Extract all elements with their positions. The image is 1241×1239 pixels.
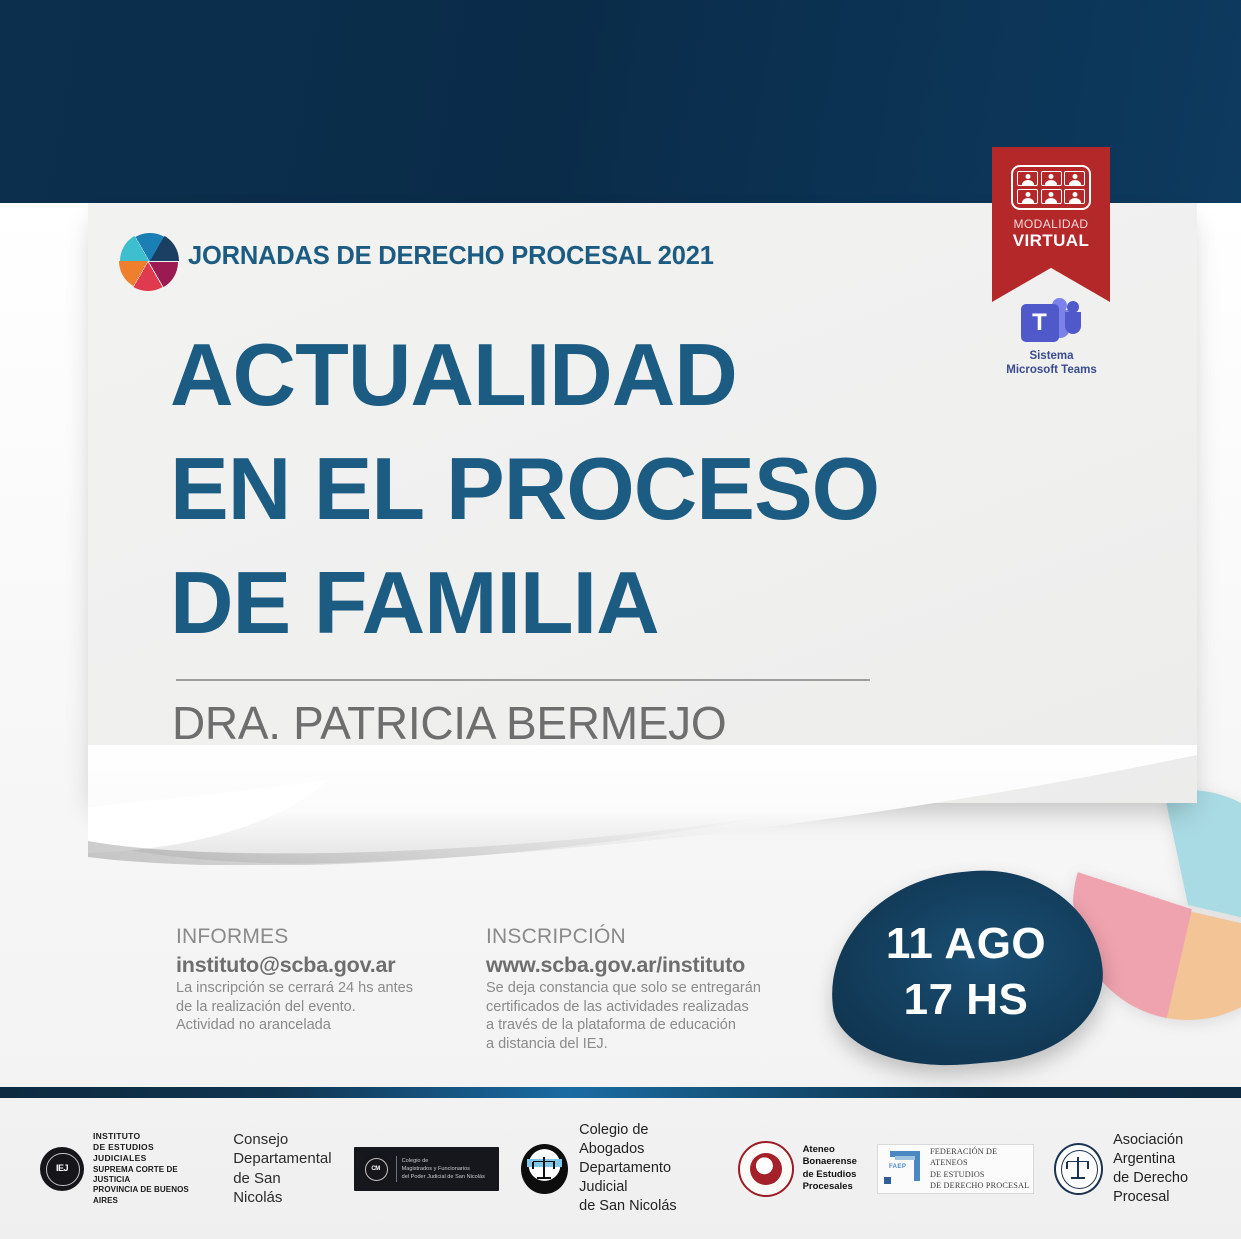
magistrados-divider [396, 1156, 397, 1182]
sponsor-logo-consejo-departamental: Consejo Departamental de San Nicolás [233, 1130, 331, 1207]
sponsor-logo-row: IEJ INSTITUTO DE ESTUDIOS JUDICIALES SUP… [0, 1098, 1241, 1239]
consejo-line2: Departamental [233, 1149, 331, 1168]
participant-cell [1017, 189, 1038, 204]
magistrados-line3: del Poder Judicial de San Nicolás [402, 1173, 485, 1181]
event-series-header: JORNADAS DE DERECHO PROCESAL 2021 [120, 228, 820, 302]
sponsor-logo-aadp: Asociación Argentina de Derecho Procesal [1034, 1131, 1241, 1207]
informes-heading: INFORMES [176, 925, 466, 949]
magistrados-seal-mark: CM [371, 1166, 379, 1172]
iej-line2: DE ESTUDIOS JUDICIALES [93, 1142, 209, 1164]
inscripcion-note-line4: a distancia del IEJ. [486, 1035, 786, 1054]
teams-person-head-small [1067, 301, 1079, 313]
inscripcion-note-line3: a través de la plataforma de educación [486, 1016, 786, 1035]
abogados-line1: Colegio de Abogados [579, 1121, 715, 1159]
iej-line3: SUPREMA CORTE DE JUSTICIA [93, 1165, 209, 1185]
inscripcion-note-line1: Se deja constancia que solo se entregará… [486, 979, 786, 998]
sponsor-logo-colegio-abogados: Colegio de Abogados Departamento Judicia… [499, 1121, 716, 1216]
participant-cell [1041, 189, 1062, 204]
abogados-line2: Departamento Judicial [579, 1159, 715, 1197]
consejo-line3: de San Nicolás [233, 1169, 331, 1207]
modalidad-virtual-ribbon: MODALIDAD VIRTUAL [992, 147, 1110, 302]
footer-divider-bar [0, 1087, 1241, 1098]
sponsor-logo-iej: IEJ INSTITUTO DE ESTUDIOS JUDICIALES SUP… [40, 1131, 209, 1206]
ateneo-line3: de Estudios [803, 1169, 857, 1182]
aadp-logo-text: Asociación Argentina de Derecho Procesal [1113, 1131, 1241, 1207]
date-badge-date: 11 AGO [830, 916, 1102, 972]
magistrados-logo-text: Colegio de Magistrados y Funcionarios de… [402, 1157, 485, 1181]
inscripcion-note-line2: certificados de las actividades realizad… [486, 998, 786, 1017]
sponsor-logo-faep: FAEP FEDERACIÓN DE ATENEOS DE ESTUDIOS D… [877, 1144, 1034, 1194]
aadp-line1: Asociación Argentina [1113, 1131, 1241, 1169]
inscripcion-block: INSCRIPCIÓN www.scba.gov.ar/instituto Se… [486, 925, 786, 1053]
consejo-line1: Consejo [233, 1130, 331, 1149]
ateneo-line4: Procesales [803, 1181, 857, 1194]
iej-seal-mark: IEJ [56, 1164, 68, 1173]
page-title-line1: ACTUALIDAD [170, 318, 1030, 432]
ateneo-line2: Bonaerense [803, 1156, 857, 1169]
ribbon-label-modalidad: MODALIDAD [992, 217, 1110, 231]
page-title-line3: DE FAMILIA [170, 546, 1030, 660]
abogados-line3: de San Nicolás [579, 1197, 715, 1216]
faep-line1: FEDERACIÓN DE ATENEOS [930, 1146, 1033, 1169]
iej-pinwheel-logo [120, 232, 178, 290]
date-badge-text: 11 AGO 17 HS [830, 916, 1102, 1028]
aadp-line2: de Derecho Procesal [1113, 1169, 1241, 1207]
logo-segment-orange [119, 232, 177, 290]
speaker-name: DRA. PATRICIA BERMEJO [172, 696, 726, 750]
aadp-scales-icon [1065, 1157, 1091, 1181]
date-badge-time: 17 HS [830, 972, 1102, 1028]
iej-line4: PROVINCIA DE BUENOS AIRES [93, 1185, 209, 1205]
magistrados-line1: Colegio de [402, 1157, 485, 1165]
colegio-abogados-seal-icon [521, 1144, 568, 1194]
inscripcion-url[interactable]: www.scba.gov.ar/instituto [486, 953, 786, 978]
informes-note-line1: La inscripción se cerrará 24 hs antes [176, 979, 466, 998]
faep-line3: DE DERECHO PROCESAL [930, 1180, 1033, 1192]
ribbon-label-virtual: VIRTUAL [992, 231, 1110, 251]
video-conference-grid-icon [1011, 165, 1091, 210]
speaker-divider [176, 679, 870, 681]
iej-seal-icon: IEJ [40, 1147, 84, 1191]
ateneo-logo-text: Ateneo Bonaerense de Estudios Procesales [803, 1144, 857, 1194]
iej-logo-text: INSTITUTO DE ESTUDIOS JUDICIALES SUPREMA… [93, 1131, 209, 1206]
colegio-abogados-logo-text: Colegio de Abogados Departamento Judicia… [579, 1121, 715, 1216]
faep-logo-icon: FAEP [884, 1151, 924, 1187]
faep-mark-label: FAEP [889, 1164, 906, 1170]
iej-line1: INSTITUTO [93, 1131, 209, 1142]
participant-cell [1041, 171, 1062, 186]
informes-note-line2: de la realización del evento. [176, 998, 466, 1017]
footer: IEJ INSTITUTO DE ESTUDIOS JUDICIALES SUP… [0, 1098, 1241, 1239]
date-badge: 11 AGO 17 HS [830, 872, 1102, 1064]
informes-note-line3: Actividad no arancelada [176, 1016, 466, 1035]
participant-cell [1064, 171, 1085, 186]
faep-logo-text: FEDERACIÓN DE ATENEOS DE ESTUDIOS DE DER… [930, 1146, 1033, 1192]
aadp-seal-icon [1054, 1143, 1103, 1195]
magistrados-line2: Magistrados y Funcionarios [402, 1165, 485, 1173]
informes-block: INFORMES instituto@scba.gov.ar La inscri… [176, 925, 466, 1035]
page-title: ACTUALIDAD EN EL PROCESO DE FAMILIA [170, 318, 1030, 660]
inscripcion-heading: INSCRIPCIÓN [486, 925, 786, 949]
event-series-title: JORNADAS DE DERECHO PROCESAL 2021 [188, 242, 714, 271]
sponsor-logo-colegio-magistrados: CM Colegio de Magistrados y Funcionarios… [354, 1147, 499, 1191]
teams-person-body-small [1065, 312, 1081, 334]
faep-line2: DE ESTUDIOS [930, 1169, 1033, 1181]
participant-cell [1064, 189, 1085, 204]
consejo-logo-text: Consejo Departamental de San Nicolás [233, 1130, 331, 1207]
ateneo-line1: Ateneo [803, 1144, 857, 1157]
scales-of-justice-icon [531, 1157, 557, 1181]
ateneo-bonaerense-seal-icon [738, 1141, 794, 1197]
informes-email[interactable]: instituto@scba.gov.ar [176, 953, 466, 978]
magistrados-seal-icon: CM [361, 1154, 391, 1184]
sponsor-logo-ateneo-bonaerense: Ateneo Bonaerense de Estudios Procesales [716, 1141, 857, 1197]
page-title-line2: EN EL PROCESO [170, 432, 1030, 546]
participant-cell [1017, 171, 1038, 186]
